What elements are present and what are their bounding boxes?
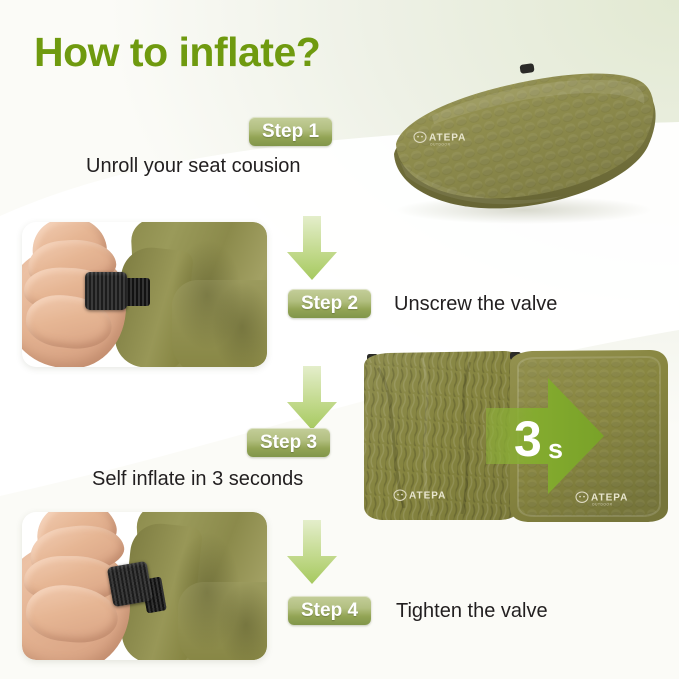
step-2-badge: Step 2: [288, 289, 371, 318]
step-2-text: Unscrew the valve: [394, 293, 557, 316]
svg-text:OUTDOOR: OUTDOOR: [592, 502, 613, 506]
arrow-down-icon: [284, 366, 340, 432]
valve-cap-icon: [85, 272, 127, 310]
page-title: How to inflate?: [34, 32, 320, 73]
inflate-seconds-value: 3: [514, 411, 542, 467]
inflate-seconds-unit: s: [548, 434, 563, 464]
valve-unscrew-photo: [22, 222, 267, 367]
step-4-text: Tighten the valve: [396, 600, 548, 623]
valve-cap-icon: [107, 561, 153, 607]
step-1-badge: Step 1: [249, 117, 332, 146]
how-to-inflate-infographic: How to inflate?: [0, 0, 679, 679]
svg-text:ATEPA: ATEPA: [409, 491, 446, 502]
step-3-badge: Step 3: [247, 428, 330, 457]
valve-tighten-photo: [22, 512, 267, 660]
svg-text:OUTDOOR: OUTDOOR: [430, 142, 451, 146]
hero-cushion-image: ATEPA OUTDOOR: [372, 58, 672, 226]
step-3-text: Self inflate in 3 seconds: [92, 468, 303, 491]
step-1-text: Unroll your seat cousion: [86, 155, 301, 178]
step-4-badge: Step 4: [288, 596, 371, 625]
arrow-down-icon: [284, 216, 340, 282]
arrow-down-icon: [284, 520, 340, 586]
arrow-right-icon: 3 s: [486, 372, 606, 500]
